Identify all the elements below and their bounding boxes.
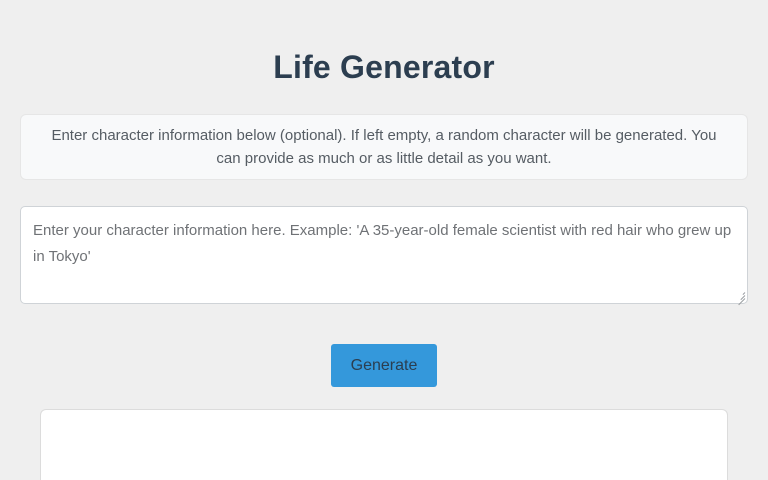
info-banner-text: Enter character information below (optio… (44, 124, 724, 170)
page-title: Life Generator (0, 48, 768, 86)
generate-button[interactable]: Generate (331, 344, 437, 387)
character-info-input[interactable] (20, 206, 748, 304)
app-root: Life Generator Enter character informati… (0, 0, 768, 480)
info-banner: Enter character information below (optio… (20, 114, 748, 180)
result-panel (40, 409, 728, 480)
